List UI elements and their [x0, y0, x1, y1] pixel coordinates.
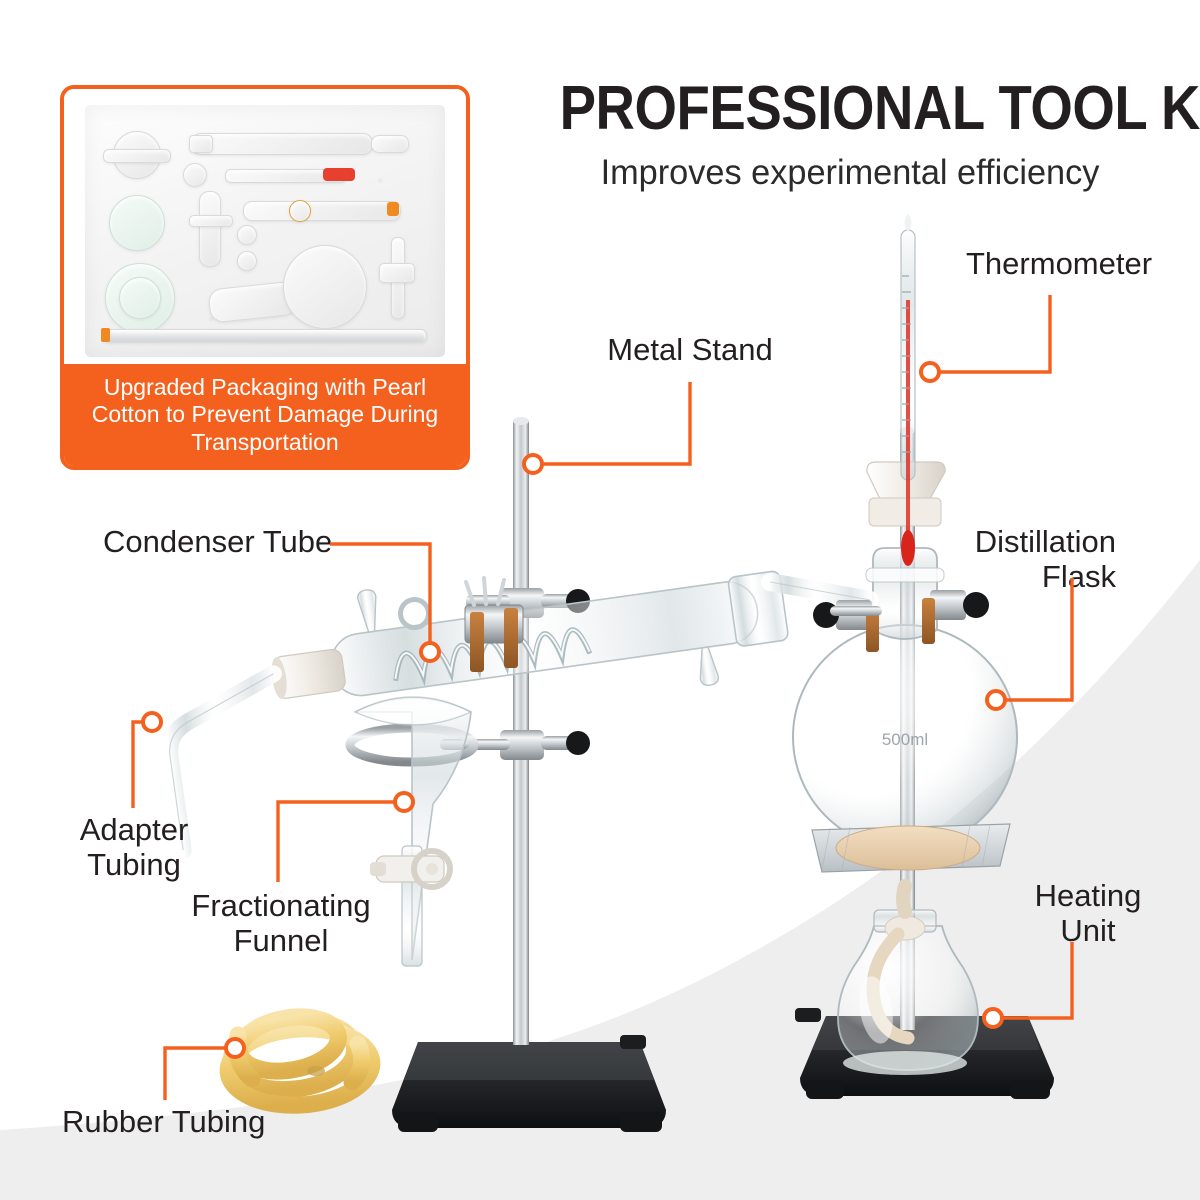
- clamp-flask-right: [922, 590, 989, 644]
- dot-adapter-tubing: [143, 713, 161, 731]
- infographic-canvas: 500ml: [0, 0, 1200, 1200]
- callout-label-heating-unit: Heating Unit: [1000, 878, 1176, 949]
- packaging-inset-card: Upgraded Packaging with Pearl Cotton to …: [60, 85, 470, 470]
- leader-rubber-tubing: [165, 1048, 228, 1100]
- callout-label-metal-stand: Metal Stand: [560, 332, 820, 367]
- callout-label-thermometer: Thermometer: [966, 246, 1200, 281]
- callout-label-fractionating-funnel: Fractionating Funnel: [170, 888, 392, 959]
- callout-label-distillation-flask: Distillation Flask: [928, 524, 1116, 595]
- leader-heating-unit: [1000, 942, 1072, 1018]
- dot-fractionating-funnel: [395, 793, 413, 811]
- dot-thermometer: [921, 363, 939, 381]
- packaging-caption: Upgraded Packaging with Pearl Cotton to …: [64, 364, 466, 466]
- rubber-tubing: [226, 1010, 375, 1110]
- heating-unit: [838, 886, 978, 1075]
- callout-label-rubber-tubing: Rubber Tubing: [62, 1104, 342, 1139]
- clamp-condenser: [465, 578, 523, 672]
- wire-gauze: [812, 824, 1010, 872]
- leader-distillation-flask: [1003, 578, 1072, 700]
- dot-condenser-tube: [421, 643, 439, 661]
- leader-metal-stand: [540, 382, 690, 464]
- clamp-ring: [350, 728, 590, 762]
- thermometer: [867, 214, 945, 566]
- dot-rubber-tubing: [226, 1039, 244, 1057]
- callout-label-adapter-tubing: Adapter Tubing: [38, 812, 230, 883]
- leader-fractionating-funnel: [278, 802, 398, 882]
- dot-metal-stand: [524, 455, 542, 473]
- page-subtitle: Improves experimental efficiency: [527, 154, 1174, 193]
- clamp-flask-left: [813, 600, 882, 652]
- foam-tray: [85, 105, 445, 357]
- callout-label-condenser-tube: Condenser Tube: [103, 524, 363, 559]
- dot-heating-unit: [984, 1009, 1002, 1027]
- clamp-upper: [466, 588, 590, 618]
- header-block: PROFESSIONAL TOOL KIT Improves experimen…: [520, 78, 1180, 193]
- condenser-assembly: [151, 533, 806, 850]
- leader-thermometer: [938, 295, 1050, 372]
- page-title: PROFESSIONAL TOOL KIT: [560, 78, 1141, 140]
- dot-distillation-flask: [987, 691, 1005, 709]
- left-stand: [350, 417, 666, 1132]
- packaging-photo: [64, 89, 466, 372]
- leader-adapter-tubing: [133, 722, 158, 808]
- stopcock: [370, 851, 450, 887]
- flask-volume-text: 500ml: [882, 730, 928, 749]
